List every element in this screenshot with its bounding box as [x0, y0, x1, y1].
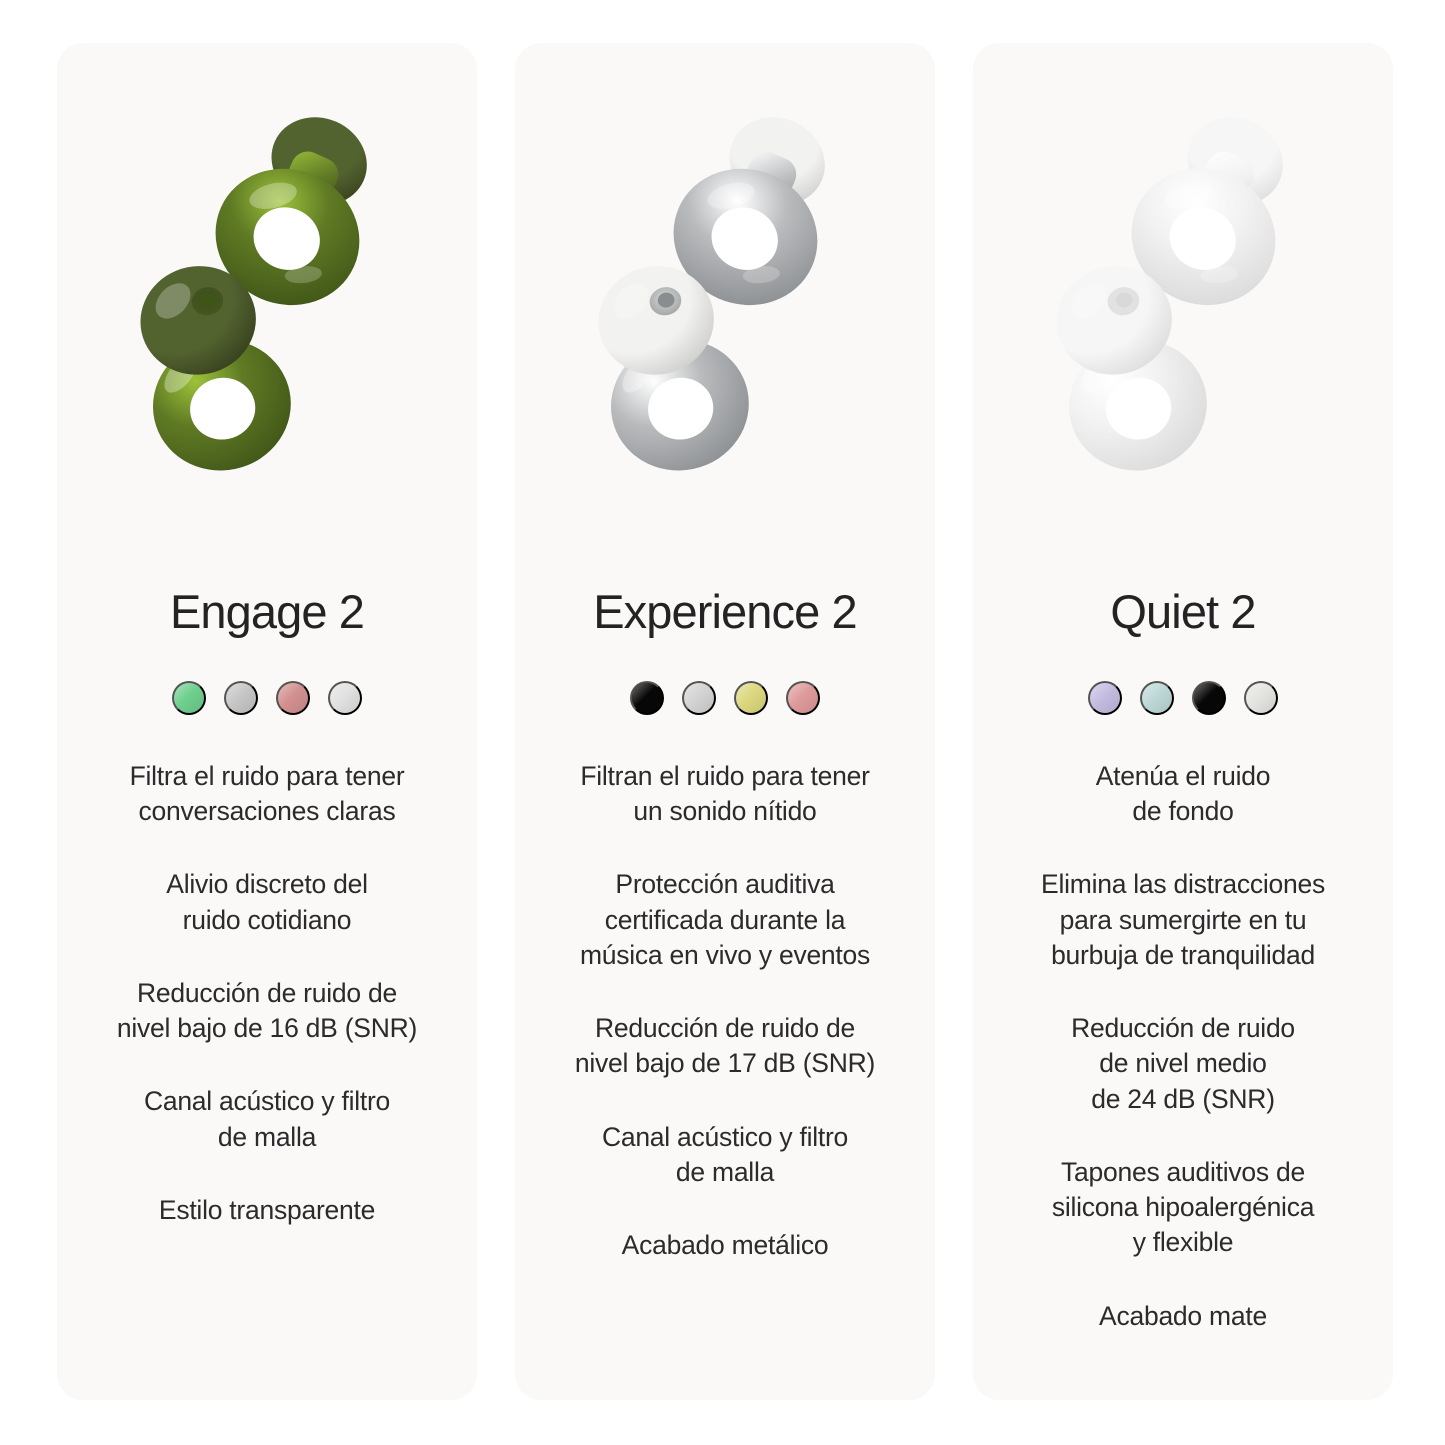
color-swatch-lavender[interactable]: [1088, 681, 1122, 715]
color-swatch-rose[interactable]: [786, 681, 820, 715]
product-title-experience-2: Experience 2: [593, 588, 857, 635]
product-title-engage-2: Engage 2: [170, 588, 364, 635]
loop-earplugs-green: [71, 43, 463, 513]
feature-item: Canal acústico y filtro de malla: [602, 1120, 848, 1190]
feature-item: Atenúa el ruido de fondo: [1096, 759, 1271, 829]
color-swatch-mint[interactable]: [1140, 681, 1174, 715]
color-swatch-row-quiet-2: [1088, 681, 1278, 715]
feature-item: Canal acústico y filtro de malla: [144, 1084, 390, 1154]
feature-list-experience-2: Filtran el ruido para tener un sonido ní…: [529, 759, 921, 1263]
product-title-quiet-2: Quiet 2: [1110, 588, 1255, 635]
feature-item: Filtran el ruido para tener un sonido ní…: [580, 759, 869, 829]
product-image-engage-2: [71, 43, 463, 513]
feature-item: Reducción de ruido de nivel bajo de 16 d…: [117, 976, 417, 1046]
feature-item: Elimina las distracciones para sumergirt…: [1041, 867, 1325, 973]
feature-item: Reducción de ruido de nivel bajo de 17 d…: [575, 1011, 875, 1081]
product-comparison-grid: Engage 2Filtra el ruido para tener conve…: [0, 0, 1445, 1445]
color-swatch-silver[interactable]: [682, 681, 716, 715]
feature-item: Acabado mate: [1099, 1299, 1267, 1334]
color-swatch-row-experience-2: [630, 681, 820, 715]
color-swatch-green[interactable]: [172, 681, 206, 715]
color-swatch-off-white[interactable]: [1244, 681, 1278, 715]
product-card-quiet-2[interactable]: Quiet 2Atenúa el ruido de fondoElimina l…: [973, 43, 1393, 1400]
feature-item: Tapones auditivos de silicona hipoalergé…: [1052, 1155, 1314, 1261]
feature-item: Filtra el ruido para tener conversacione…: [130, 759, 405, 829]
feature-item: Protección auditiva certificada durante …: [580, 867, 870, 973]
color-swatch-row-engage-2: [172, 681, 362, 715]
color-swatch-silver-grey[interactable]: [224, 681, 258, 715]
product-card-experience-2[interactable]: Experience 2Filtran el ruido para tener …: [515, 43, 935, 1400]
feature-item: Estilo transparente: [159, 1193, 375, 1228]
feature-list-quiet-2: Atenúa el ruido de fondoElimina las dist…: [987, 759, 1379, 1334]
feature-item: Alivio discreto del ruido cotidiano: [166, 867, 367, 937]
feature-item: Acabado metálico: [622, 1228, 829, 1263]
feature-list-engage-2: Filtra el ruido para tener conversacione…: [71, 759, 463, 1228]
color-swatch-dusty-rose[interactable]: [276, 681, 310, 715]
product-card-engage-2[interactable]: Engage 2Filtra el ruido para tener conve…: [57, 43, 477, 1400]
loop-earplugs-white: [987, 43, 1379, 513]
feature-item: Reducción de ruido de nivel medio de 24 …: [1071, 1011, 1295, 1117]
color-swatch-gold[interactable]: [734, 681, 768, 715]
color-swatch-black[interactable]: [630, 681, 664, 715]
product-image-experience-2: [529, 43, 921, 513]
product-image-quiet-2: [987, 43, 1379, 513]
loop-earplugs-silver: [529, 43, 921, 513]
color-swatch-light-grey[interactable]: [328, 681, 362, 715]
color-swatch-black[interactable]: [1192, 681, 1226, 715]
